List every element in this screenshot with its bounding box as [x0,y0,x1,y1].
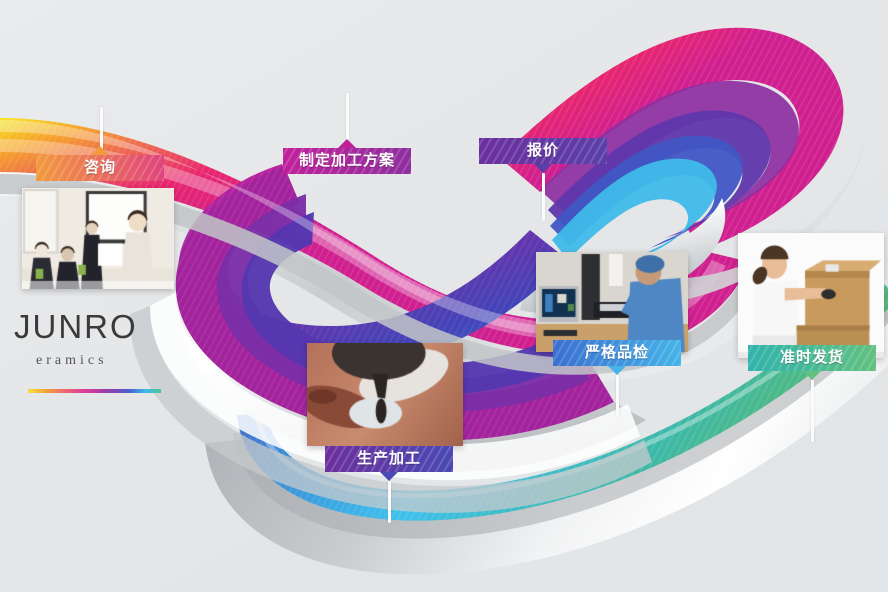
step-label-text-quote: 报价 [527,142,559,159]
step-label-consult[interactable]: 咨询 [36,155,164,181]
label-pointer-down [803,371,821,380]
inspection-photo[interactable] [536,252,688,352]
connector-stem-production [388,481,391,523]
step-label-text-production: 生产加工 [357,450,421,467]
connector-stem-inspection [616,375,619,417]
brand-subtitle: eramics [36,353,194,369]
label-pointer-down [380,472,398,481]
packing-photo-canvas [738,233,884,358]
step-label-production[interactable]: 生产加工 [325,446,453,472]
label-pointer-down [534,164,552,173]
label-pointer-up [338,139,356,148]
packing-photo[interactable] [738,233,884,358]
step-label-text-consult: 咨询 [84,159,116,176]
step-label-text-delivery: 准时发货 [780,349,844,366]
label-pointer-up [91,146,109,155]
step-label-text-plan: 制定加工方案 [299,152,395,169]
connector-stem-delivery [811,380,814,442]
step-label-quote[interactable]: 报价 [479,138,607,164]
step-label-text-inspection: 严格品检 [585,344,649,361]
meeting-photo-canvas [22,188,174,289]
meeting-photo[interactable] [22,188,174,289]
brand-logo: JUNRO eramics [14,310,194,393]
brand-name: JUNRO [14,310,194,343]
label-pointer-down [608,366,626,375]
flow-infographic: JUNRO eramics 咨询制定加工方案报价生产加工严格品检准时发货 [0,0,888,592]
step-label-inspection[interactable]: 严格品检 [553,340,681,366]
brand-rule [28,389,161,393]
inspection-photo-canvas [536,252,688,352]
step-label-plan[interactable]: 制定加工方案 [283,148,411,174]
machining-photo[interactable] [307,343,463,446]
connector-stem-quote [542,173,545,221]
machining-photo-canvas [307,343,463,446]
step-label-delivery[interactable]: 准时发货 [748,345,876,371]
